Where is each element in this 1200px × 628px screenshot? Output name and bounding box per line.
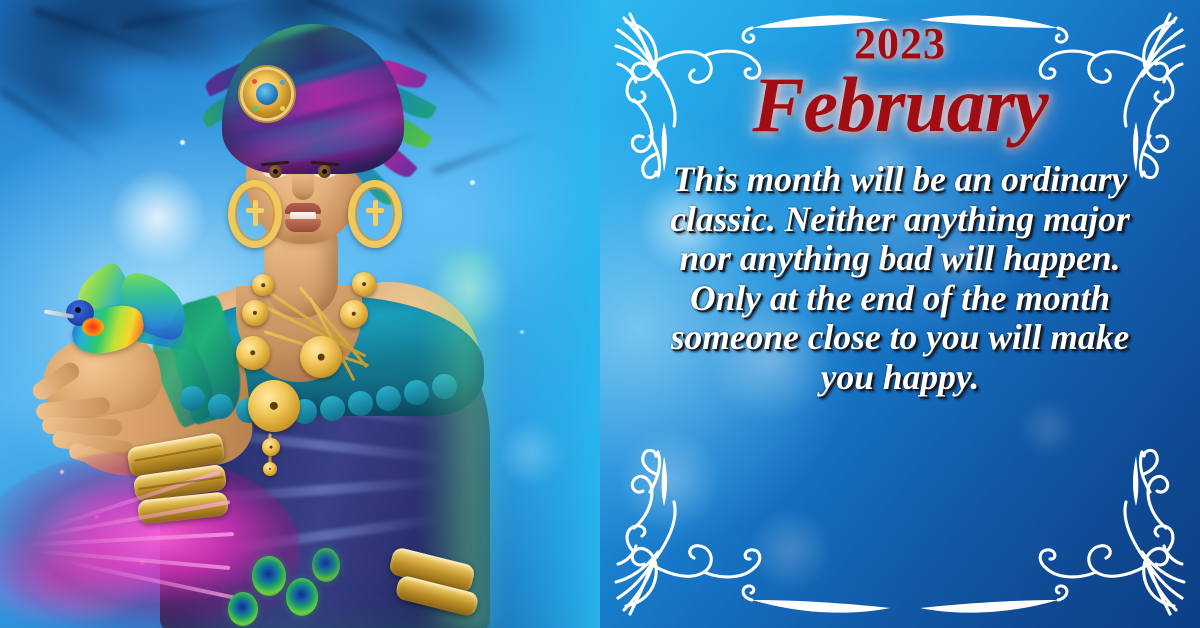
- necklace-disc: [242, 300, 268, 326]
- necklace-disc: [352, 272, 376, 296]
- peacock-eye: [228, 592, 258, 626]
- peacock-eye: [312, 548, 340, 582]
- bokeh-light: [1020, 400, 1076, 456]
- brooch-gem: [252, 79, 257, 84]
- hummingbird-throat: [82, 318, 104, 336]
- lace-scallop: [180, 386, 205, 411]
- lace-scallop: [348, 391, 373, 416]
- necklace-pendant: [263, 462, 277, 476]
- necklace-disc: [300, 336, 342, 378]
- brooch-gem: [280, 106, 285, 111]
- earring-cross-icon: [366, 200, 384, 226]
- pupil-left: [273, 169, 278, 174]
- bokeh-light: [750, 510, 830, 590]
- peacock-eye: [252, 556, 286, 596]
- bokeh-light: [620, 430, 720, 530]
- text-panel: 2023 February This month will be an ordi…: [600, 0, 1200, 628]
- lace-scallop: [404, 380, 429, 405]
- necklace-disc: [340, 300, 368, 328]
- peacock-eye: [286, 578, 318, 616]
- necklace-disc-large: [248, 380, 300, 432]
- hummingbird-eye: [75, 307, 81, 313]
- necklace-pendant: [262, 438, 280, 456]
- necklace-disc: [236, 336, 270, 370]
- month-heading: February: [600, 60, 1200, 150]
- lace-scallop: [432, 374, 457, 399]
- horoscope-card: 2023 February This month will be an ordi…: [0, 0, 1200, 628]
- corner-flourish-icon: [1016, 444, 1196, 624]
- illustration-panel: [0, 0, 600, 628]
- panel-blend-gradient: [470, 0, 600, 628]
- lace-scallop: [320, 396, 345, 421]
- necklace-disc: [252, 274, 274, 296]
- lace-scallop: [376, 386, 401, 411]
- nose: [292, 172, 314, 200]
- brooch-gem: [253, 106, 258, 111]
- earring-cross-icon: [246, 200, 264, 226]
- lower-lip: [285, 219, 321, 232]
- lace-scallop: [208, 394, 233, 419]
- horoscope-message: This month will be an ordinary classic. …: [652, 160, 1148, 397]
- pupil-right: [322, 169, 327, 174]
- brooch-gem: [280, 80, 285, 85]
- chin-shadow: [280, 232, 328, 248]
- brooch-gem-center: [256, 83, 278, 105]
